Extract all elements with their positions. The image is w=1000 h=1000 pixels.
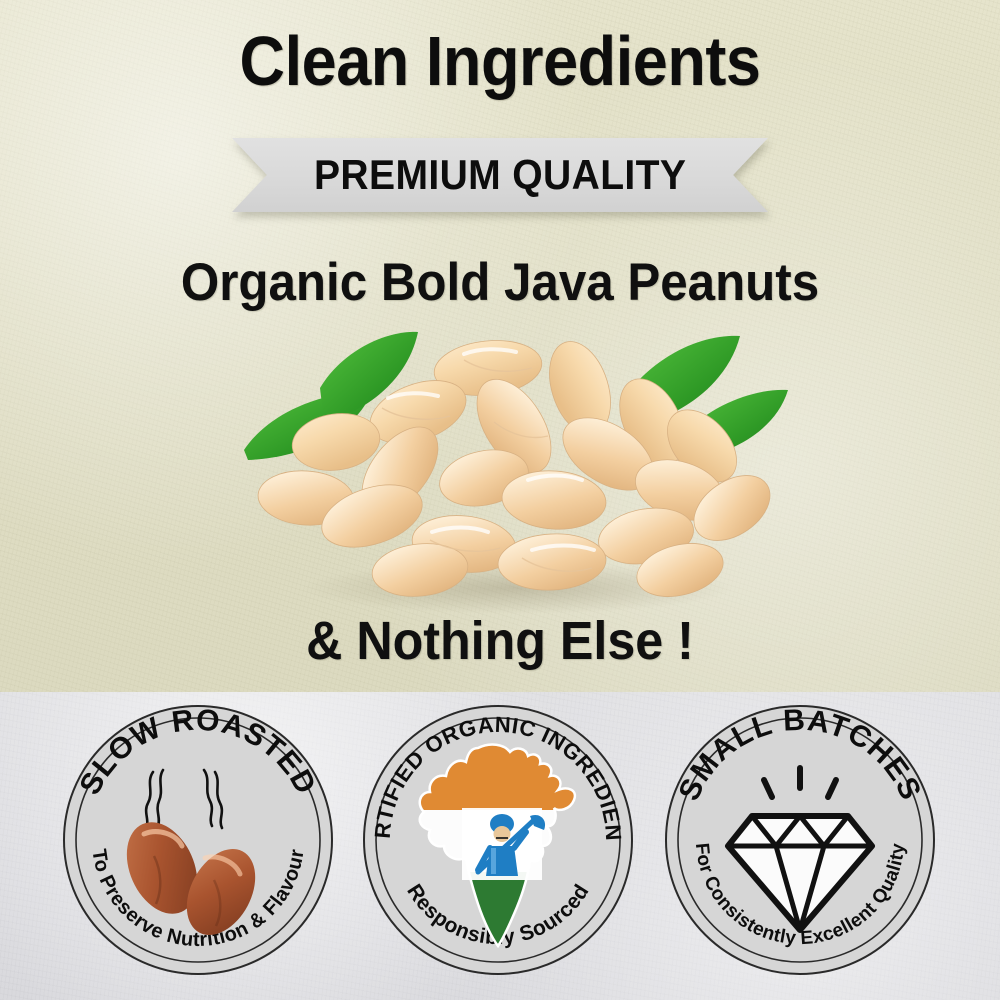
tagline: & Nothing Else ! (35, 610, 965, 672)
product-name: Organic Bold Java Peanuts (35, 252, 965, 313)
premium-quality-ribbon: PREMIUM QUALITY (232, 138, 768, 212)
ribbon-shape: PREMIUM QUALITY (232, 138, 768, 212)
peanut-pile-image (232, 330, 792, 615)
badge-certified-organic: CERTIFIED ORGANIC INGREDIENTS Responsibl… (358, 700, 638, 980)
page-title: Clean Ingredients (50, 24, 950, 98)
badge-slow-roasted: SLOW ROASTED To Preserve Nutrition & Fla… (58, 700, 338, 980)
product-infographic-poster: Clean Ingredients PREMIUM QUALITY Organi… (0, 0, 1000, 1000)
ribbon-label: PREMIUM QUALITY (314, 151, 686, 199)
trust-badges-row: SLOW ROASTED To Preserve Nutrition & Fla… (0, 700, 1000, 990)
badge-small-batches: SMALL BATCHES For Consistently Excellent… (660, 700, 940, 980)
